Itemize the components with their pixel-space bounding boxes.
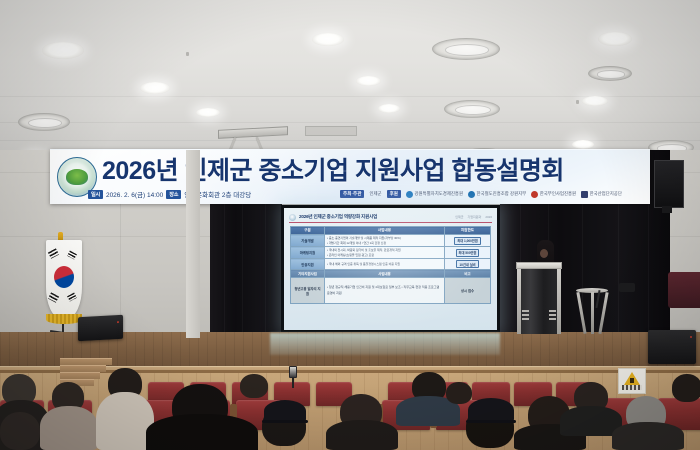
lectern: [516, 262, 562, 334]
slide-header-meta: 인제군 기업지원과 2026: [455, 215, 492, 219]
oval-ceiling-diffuser: [444, 100, 500, 118]
projection-screen: 2026년 인제군 중소기업 역량강화 지원사업 인제군 기업지원과 2026 …: [281, 205, 500, 333]
slide-table-row: 기술개발 • 중소·중견기업의 기술개발 및 시제품 제작 지원(자부담 30%…: [291, 235, 491, 247]
warning-hazard-sign: [618, 368, 646, 394]
sponsor-4-logo-icon: [581, 191, 588, 198]
audience-head: [240, 374, 268, 398]
ceiling: [0, 0, 700, 152]
slide-table-row: 마케팅지원 • 국내외 전시회, 박람회 참가비 및 홍보물 제작, 판로개척 …: [291, 247, 491, 259]
audience-head: [0, 412, 40, 450]
slide-section2-col-0: 기타지원사업: [291, 270, 325, 278]
sponsor-1: 강원특별자치도경제진흥원: [406, 191, 463, 198]
slide-section2-col-2: 비고: [445, 270, 491, 278]
recessed-downlight: [356, 76, 381, 86]
sponsor-4-label: 한국산업단지공단: [590, 191, 622, 197]
slide-table-row: 인증지원 • 국내·해외 규격 인증 취득 및 품질경영시스템 인증 비용 지원…: [291, 259, 491, 270]
recessed-downlight: [196, 108, 220, 117]
slide-section2-note: 상시 접수: [445, 278, 491, 304]
slide-row-2-body-0: • 국내·해외 규격 인증 취득 및 품질경영시스템 인증 비용 지원: [327, 262, 442, 267]
stage-equipment-box: [619, 283, 635, 292]
recessed-downlight: [598, 32, 632, 46]
slide-section2-label: 청년고용 일자리 지원: [291, 278, 325, 304]
slide-row-1-amount: 최대 500만원: [456, 249, 480, 257]
slide-col-2: 지원한도: [445, 227, 491, 235]
slide-section2-col-1: 사업내용: [325, 270, 445, 278]
slide-row-1-body: • 국내외 전시회, 박람회 참가비 및 홍보물 제작, 판로개척 지원 • 온…: [325, 247, 445, 259]
slide-table: 구분 사업내용 지원한도 기술개발 • 중소·중견기업의 기술개발 및 시제품 …: [290, 226, 491, 304]
slide-row-1-label: 마케팅지원: [291, 247, 325, 259]
banner-host-name: 인제군: [369, 191, 381, 197]
oval-ceiling-diffuser: [18, 113, 70, 131]
stage-side-furniture: [668, 272, 700, 308]
slide-section2-body-0: • 청년 정규직 채용기업 인건비 지원 및 4대보험료 일부 보조: [327, 285, 401, 289]
audience-shoulders: [326, 420, 398, 450]
slide-emblem-icon: [289, 214, 296, 221]
sponsor-3-logo-icon: [531, 191, 538, 198]
oval-ceiling-diffuser: [432, 38, 500, 60]
audience-shoulders: [40, 406, 98, 450]
slide-title: 2026년 인제군 중소기업 역량강화 지원사업: [299, 214, 377, 220]
ceiling-air-vent: [305, 126, 357, 136]
recessed-downlight: [140, 82, 170, 94]
slide-meta-2: 2026: [485, 215, 492, 219]
slide-row-0-body: • 중소·중견기업의 기술개발 및 시제품 제작 지원(자부담 30%) • 개…: [325, 235, 445, 247]
slide-meta-1: 기업지원과: [468, 215, 482, 219]
auditorium-photo-scene: 2026년 인제군 중소기업 지원사업 합동설명회 일시 2026. 2. 6(…: [0, 0, 700, 450]
slide-row-2-amount-cell: 10건내 실비: [445, 259, 491, 270]
slide-row-0-body-1: • 개발기간 최대 12개월 이내 / 연간 1회 한정 신청: [327, 241, 442, 246]
slide-row-2-label: 인증지원: [291, 259, 325, 270]
banner-title: 2026년 인제군 중소기업 지원사업 합동설명회: [102, 156, 642, 186]
sprinkler-head: [186, 52, 189, 56]
slide-col-1: 사업내용: [325, 227, 445, 235]
sponsor-2-label: 한국철도진흥조합 강원지부: [477, 191, 527, 197]
slide-header: 2026년 인제군 중소기업 역량강화 지원사업 인제군 기업지원과 2026: [289, 212, 492, 223]
taegeuk-circle-icon: [54, 266, 74, 288]
banner-host-tag: 주최·주관: [340, 190, 364, 198]
sponsor-1-label: 강원특별자치도경제진흥원: [415, 191, 463, 197]
banner-sponsor-row: 주최·주관 인제군 후원 강원특별자치도경제진흥원 한국철도진흥조합 강원지부 …: [340, 187, 640, 201]
recessed-downlight: [312, 33, 344, 46]
phone-on-tripod: [288, 366, 298, 388]
slide-section2-body: • 청년 정규직 채용기업 인건비 지원 및 4대보험료 일부 보조 • 직무교…: [325, 278, 445, 304]
slide-col-0: 구분: [291, 227, 325, 235]
flag-gold-fringe: [46, 314, 82, 324]
slide-row-1-amount-cell: 최대 500만원: [445, 247, 491, 259]
side-table: [576, 288, 608, 334]
oval-ceiling-diffuser: [588, 66, 632, 81]
banner-info-tag-date: 일시: [88, 190, 103, 199]
sponsor-2: 한국철도진흥조합 강원지부: [468, 191, 526, 198]
slide-row-0-amount-cell: 최대 1,000만원: [445, 235, 491, 247]
sprinkler-head: [576, 100, 579, 104]
recessed-downlight: [378, 104, 400, 113]
wall-mounted-speaker: [654, 160, 684, 208]
recessed-downlight: [42, 42, 84, 59]
hazard-triangle-icon: [624, 372, 640, 385]
sponsor-3: 한국부인사업진흥원: [531, 191, 576, 198]
stage-monitor-speaker-right: [648, 330, 696, 364]
recessed-downlight: [582, 96, 608, 106]
sponsor-2-logo-icon: [468, 191, 475, 198]
presentation-slide: 2026년 인제군 중소기업 역량강화 지원사업 인제군 기업지원과 2026 …: [284, 208, 497, 330]
audience-head: [672, 374, 700, 402]
slide-row-2-body: • 국내·해외 규격 인증 취득 및 품질경영시스템 인증 비용 지원: [325, 259, 445, 270]
slide-row-2-amount: 10건내 실비: [456, 260, 478, 268]
sponsor-1-logo-icon: [406, 191, 413, 198]
slide-section2-header-row: 기타지원사업 사업내용 비고: [291, 270, 491, 278]
slide-row-1-body-1: • 온라인 마케팅(쇼핑몰 입점·광고) 포함: [327, 253, 442, 258]
slide-meta-0: 인제군: [455, 215, 463, 219]
banner-info-tag-place: 장소: [166, 190, 181, 199]
event-banner: 2026년 인제군 중소기업 지원사업 합동설명회 일시 2026. 2. 6(…: [50, 149, 650, 204]
banner-sponsor-tag: 후원: [387, 190, 401, 198]
stage-light-reflection: [270, 333, 500, 355]
audience-head: [446, 382, 472, 404]
audience-shoulders: [612, 422, 684, 450]
stage-side-pillar: [186, 150, 200, 338]
audience-shoulders: [146, 414, 258, 450]
recessed-downlight: [572, 140, 594, 149]
slide-row-0-label: 기술개발: [291, 235, 325, 247]
audience-cap-icon: [264, 400, 306, 422]
audience-cap-icon: [468, 398, 514, 422]
sponsor-4: 한국산업단지공단: [581, 191, 622, 198]
slide-table-header-row: 구분 사업내용 지원한도: [291, 227, 491, 235]
stage-monitor-speaker: [78, 315, 123, 341]
banner-info-value-date: 2026. 2. 6(금) 14:00: [106, 189, 163, 199]
slide-section2-row: 청년고용 일자리 지원 • 청년 정규직 채용기업 인건비 지원 및 4대보험료…: [291, 278, 491, 304]
sponsor-3-label: 한국부인사업진흥원: [540, 191, 576, 197]
slide-row-0-amount: 최대 1,000만원: [454, 237, 481, 245]
